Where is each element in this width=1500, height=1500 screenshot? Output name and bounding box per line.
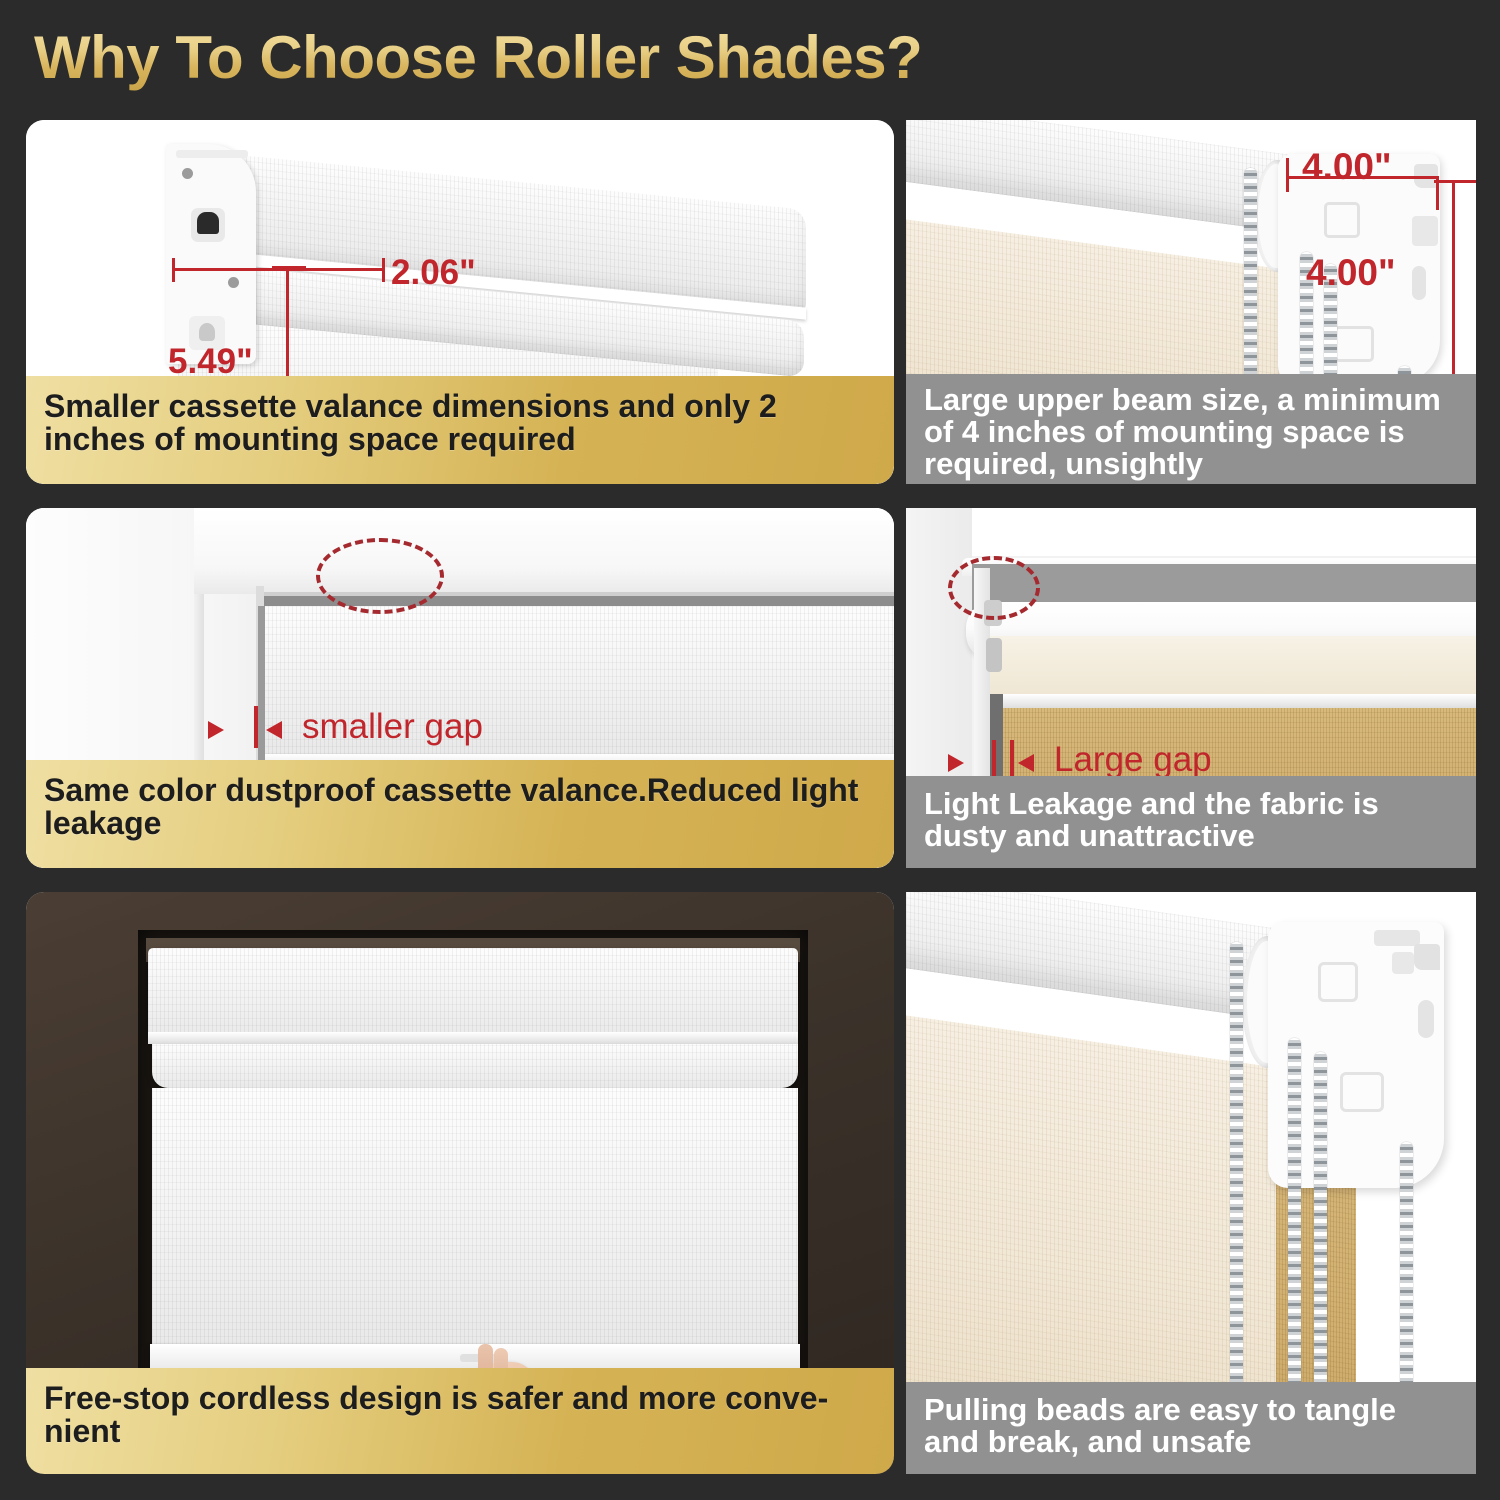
gap-mark	[254, 706, 258, 748]
page-title: Why To Choose Roller Shades?	[34, 22, 1134, 94]
light-leak-highlight-circle	[948, 556, 1040, 620]
infographic-root: Why To Choose Roller Shades?	[0, 0, 1500, 1500]
large-gap-arrow-left	[948, 754, 964, 772]
caption-cassette-valance-dimensions: Smaller cassette valance dimensions and …	[26, 376, 894, 484]
smaller-gap-label: smaller gap	[302, 707, 483, 747]
panel-dustproof-cassette-valance: smaller gap Same color dustproof cassett…	[26, 508, 894, 868]
beam-width-label: 4.00"	[1302, 146, 1392, 188]
caption-free-stop-cordless-design: Free-stop cordless design is safer and m…	[26, 1368, 894, 1474]
width-dim-label: 2.06"	[391, 253, 476, 293]
caption-light-leakage-dusty-fabric: Light Leakage and the fabric is dusty an…	[906, 776, 1476, 868]
large-gap-label: Large gap	[1054, 740, 1212, 780]
panel-pulling-beads-unsafe: Pulling beads are easy to tangle and bre…	[906, 892, 1476, 1474]
panel-light-leakage-dusty-fabric: Large gap Light Leakage and the fabric i…	[906, 508, 1476, 868]
panel-large-upper-beam: 4.00" 4.00" Large upper beam size, a min…	[906, 120, 1476, 484]
beam-height-line	[1452, 180, 1455, 380]
caption-large-upper-beam: Large upper beam size, a minimum of 4 in…	[906, 374, 1476, 484]
beam-width-tick-left	[1286, 158, 1289, 192]
panel-free-stop-cordless-design: Free-stop cordless design is safer and m…	[26, 892, 894, 1474]
beam-height-tick-top	[1434, 180, 1476, 183]
panel-cassette-valance-dimensions: 2.06" 5.49" Smaller cassette valance dim…	[26, 120, 894, 484]
height-dim-tick-top	[272, 266, 306, 269]
gap-arrow-left	[208, 721, 224, 739]
gap-arrow-right	[266, 721, 282, 739]
width-dim-tick-right	[382, 258, 385, 282]
beam-height-label: 4.00"	[1306, 252, 1396, 294]
caption-dustproof-cassette-valance: Same color dustproof cassette valance.Re…	[26, 760, 894, 868]
valance-seam-highlight	[316, 538, 444, 614]
large-gap-arrow-right	[1018, 754, 1034, 772]
caption-pulling-beads-unsafe: Pulling beads are easy to tangle and bre…	[906, 1382, 1476, 1474]
